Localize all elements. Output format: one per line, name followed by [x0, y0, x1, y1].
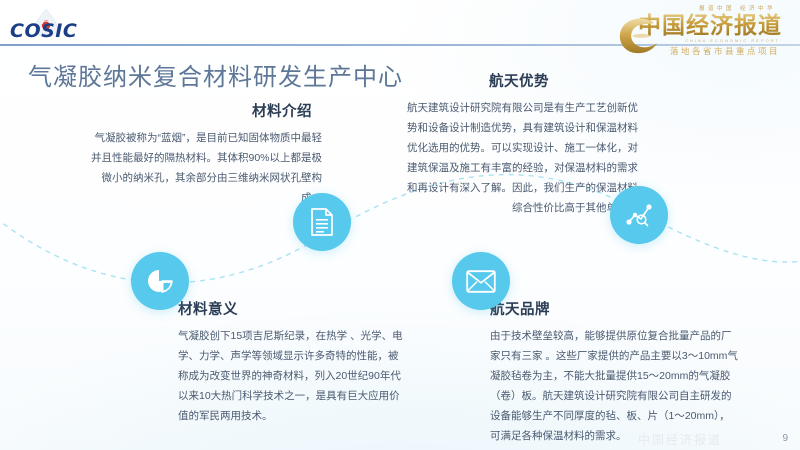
icon-circle-material-significance[interactable] [131, 252, 189, 310]
section-material-significance: 材料意义 气凝胶创下15项吉尼斯纪录，在热学 、光学、电学、力学、声学等领域显示… [178, 298, 406, 426]
cer-tagline-top: 报道中国 经济中华 [610, 4, 776, 12]
network-nodes-icon [625, 202, 653, 228]
section-heading-material-significance: 材料意义 [178, 298, 406, 319]
section-heading-aerospace-advantage: 航天优势 [400, 70, 638, 91]
section-aerospace-advantage: 航天优势 航天建筑设计研究院有限公司是有生产工艺创新优势和设备设计制造优势，具有… [400, 70, 638, 218]
cer-c-emblem-icon [614, 14, 662, 58]
cosic-logo: COSIC [8, 6, 100, 42]
icon-circle-material-intro[interactable] [293, 193, 351, 251]
document-icon [309, 208, 335, 236]
china-economic-report-logo: 报道中国 经济中华 中国经济报道 CHINA ECONOMIC REPORT 落… [610, 2, 792, 74]
icon-circle-aerospace-brand[interactable] [452, 252, 510, 310]
section-material-intro: 材料介绍 气凝胶被称为“蓝烟”，是目前已知固体物质中最轻并且性能最好的隔热材料。… [86, 100, 322, 208]
section-body-aerospace-advantage: 航天建筑设计研究院有限公司是有生产工艺创新优势和设备设计制造优势，具有建筑设计和… [400, 98, 638, 218]
section-body-aerospace-brand: 由于技术壁垒较高，能够提供原位复合批量产品的厂家只有三家 。这些厂家提供的产品主… [490, 326, 740, 446]
section-body-material-intro: 气凝胶被称为“蓝烟”，是目前已知固体物质中最轻并且性能最好的隔热材料。其体积90… [86, 128, 322, 208]
cosic-logo-text: COSIC [10, 20, 77, 42]
section-body-material-significance: 气凝胶创下15项吉尼斯纪录，在热学 、光学、电学、力学、声学等领域显示许多奇特的… [178, 326, 406, 426]
watermark: 中国经济报道 [638, 431, 722, 448]
page-number: 9 [782, 433, 788, 444]
pie-chart-icon [146, 267, 174, 295]
section-heading-material-intro: 材料介绍 [86, 100, 322, 121]
envelope-icon [466, 270, 496, 293]
slide-canvas: COSIC 报道中国 经济中华 中国经济报道 CHINA ECONOMIC RE… [0, 0, 800, 450]
icon-circle-aerospace-advantage[interactable] [610, 186, 668, 244]
section-aerospace-brand: 航天品牌 由于技术壁垒较高，能够提供原位复合批量产品的厂家只有三家 。这些厂家提… [490, 298, 740, 446]
section-heading-aerospace-brand: 航天品牌 [490, 298, 740, 319]
page-title: 气凝胶纳米复合材料研发生产中心 [28, 57, 403, 92]
